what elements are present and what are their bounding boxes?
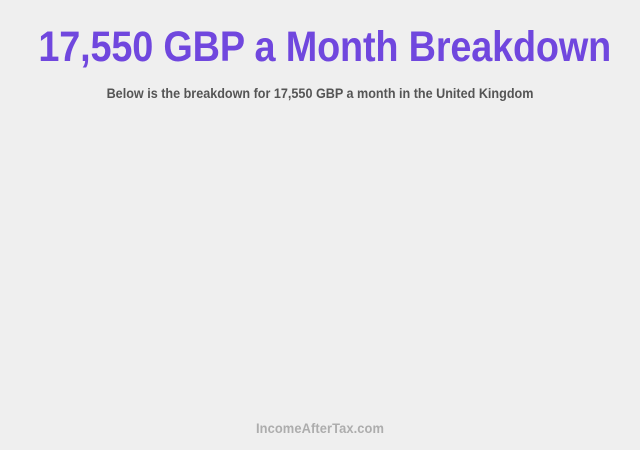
breakdown-content-area [0, 102, 640, 420]
site-credit: IncomeAfterTax.com [26, 420, 615, 437]
page-title: 17,550 GBP a Month Breakdown [38, 22, 601, 72]
page-subtitle: Below is the breakdown for 17,550 GBP a … [32, 72, 608, 102]
page-footer: IncomeAfterTax.com [0, 420, 640, 450]
breakdown-page: 17,550 GBP a Month Breakdown Below is th… [0, 0, 640, 450]
page-header: 17,550 GBP a Month Breakdown Below is th… [0, 0, 640, 102]
